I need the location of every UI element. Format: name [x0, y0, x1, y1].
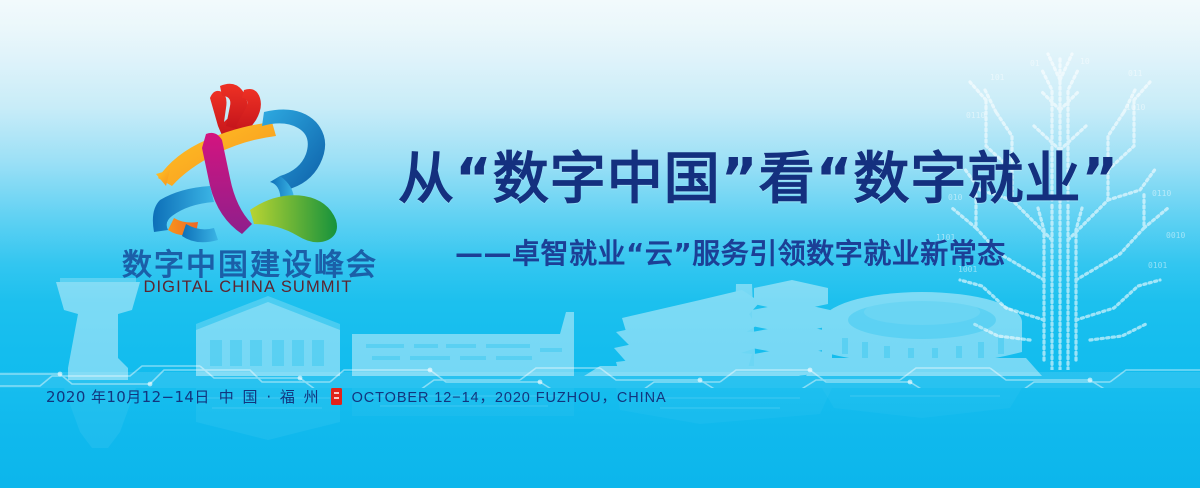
- svg-text:011: 011: [1128, 69, 1143, 78]
- olympic-stadium: [822, 292, 1022, 365]
- event-date-english: OCTOBER 12−14，2020 FUZHOU，CHINA: [352, 386, 667, 407]
- summit-logo: 数字中国建设峰会 DIGITAL CHINA SUMMIT: [122, 82, 374, 302]
- svg-text:0110: 0110: [966, 111, 985, 120]
- page-title: 从“数字中国”看“数字就业”: [398, 152, 1119, 208]
- red-seal-icon: [331, 388, 342, 405]
- shu-calligraphy-logo-icon: [152, 82, 342, 247]
- svg-text:1010: 1010: [1126, 103, 1145, 112]
- page-subtitle: ——卓智就业“云”服务引领数字就业新常态: [455, 240, 1006, 268]
- svg-text:0101: 0101: [1148, 261, 1167, 270]
- logo-english-name: DIGITAL CHINA SUMMIT: [122, 278, 374, 297]
- convention-center: [196, 296, 340, 376]
- long-exhibition-hall: [352, 312, 574, 376]
- svg-text:101: 101: [990, 73, 1005, 82]
- svg-text:01: 01: [1030, 59, 1040, 68]
- event-date-chinese: 2020 年10月12−14日: [46, 386, 210, 407]
- svg-text:0010: 0010: [1166, 231, 1185, 240]
- event-location-chinese: 中 国 · 福 州: [219, 386, 321, 407]
- svg-text:10: 10: [1080, 57, 1090, 66]
- svg-text:0110: 0110: [1152, 189, 1171, 198]
- event-banner: 0110 1010 010 0110 101 011 1001 0101 01 …: [0, 0, 1200, 488]
- event-date-bar: 2020 年10月12−14日 中 国 · 福 州 OCTOBER 12−14，…: [46, 386, 667, 407]
- strait-culture-arts-centre: [614, 280, 832, 376]
